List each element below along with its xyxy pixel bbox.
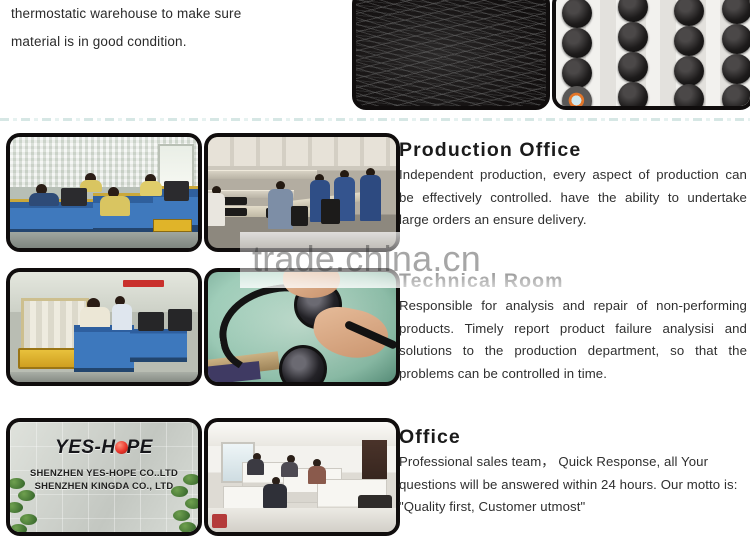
- employee-body: [281, 462, 298, 477]
- cubicle-partition: [130, 329, 186, 362]
- section-production-office: Production Office Independent production…: [399, 139, 747, 262]
- production-office-body: Independent production, every aspect of …: [399, 164, 747, 232]
- intro-line-2: material is in good condition.: [11, 28, 341, 56]
- floor: [208, 508, 396, 532]
- sales-office-image: [208, 422, 396, 532]
- worker-body: [140, 181, 163, 195]
- section-technical-room: Technical Room Responsible for analysis …: [399, 270, 747, 385]
- ceiling-lights: [208, 137, 396, 166]
- floor: [10, 372, 198, 382]
- photo-production-office-cubicles: [6, 133, 202, 252]
- office-body: Professional sales team， Quick Response,…: [399, 451, 747, 519]
- worker-body: [29, 193, 59, 206]
- intro-line-1: thermostatic warehouse to make sure: [11, 0, 341, 28]
- parts-shelf: [208, 170, 317, 179]
- technical-room-body: Responsible for analysis and repair of n…: [399, 295, 747, 385]
- plant-left: [10, 464, 44, 532]
- photo-assembly-line: [204, 133, 400, 252]
- production-office-cubicles-image: [10, 137, 198, 248]
- photo-speaker-driver-trays: [552, 0, 750, 110]
- department-sign: [153, 219, 193, 232]
- desk-surface: [10, 232, 198, 248]
- production-office-heading: Production Office: [399, 139, 747, 162]
- cable-wire-bundle-image: [356, 0, 546, 106]
- red-bin: [212, 514, 227, 527]
- worker-body: [204, 193, 225, 226]
- worker-body: [100, 196, 130, 216]
- employee-body: [247, 459, 264, 474]
- speaker-driver-trays-image: [556, 0, 750, 106]
- monitor: [168, 309, 192, 331]
- office-heading: Office: [399, 426, 747, 449]
- employee-body: [263, 484, 287, 508]
- red-banner: [123, 280, 164, 288]
- lobby-company-sign-image: YES-HPE SHENZHEN YES-HOPE CO..LTD SHENZH…: [10, 422, 198, 532]
- technical-room-heading: Technical Room: [399, 270, 747, 293]
- monitor: [138, 312, 164, 332]
- photo-lobby-company-sign: YES-HPE SHENZHEN YES-HOPE CO..LTD SHENZH…: [6, 418, 202, 536]
- photo-sales-office: [204, 418, 400, 536]
- employee-body: [308, 466, 327, 484]
- photo-headphone-repair: [204, 268, 400, 386]
- plant-right: [164, 464, 198, 532]
- worker-body: [360, 175, 381, 222]
- equipment-case: [291, 206, 308, 226]
- engineer-body: [80, 307, 110, 327]
- assembly-line-image: [208, 137, 396, 248]
- photo-technical-room-desk: [6, 268, 202, 386]
- logo-suffix: PE: [127, 437, 153, 458]
- technical-room-desk-image: [10, 272, 198, 382]
- company-name-line-1: SHENZHEN YES-HOPE CO..LTD: [30, 467, 178, 478]
- monitor: [164, 181, 188, 201]
- photo-cable-wire-bundle: [352, 0, 550, 110]
- engineer-body: [112, 304, 133, 330]
- section-office: Office Professional sales team， Quick Re…: [399, 426, 747, 519]
- logo-prefix: YES-H: [55, 437, 116, 458]
- worker-body: [268, 189, 292, 229]
- equipment-case: [321, 199, 340, 223]
- intro-paragraph: thermostatic warehouse to make sure mate…: [11, 0, 341, 56]
- monitor: [61, 188, 87, 206]
- parts-bin: [223, 197, 247, 205]
- headphone-repair-image: [208, 272, 396, 382]
- company-logo: YES-HPE: [55, 437, 153, 459]
- cubicle-partition: [74, 325, 134, 376]
- company-name-line-2: SHENZHEN KINGDA CO., LTD: [35, 480, 174, 491]
- parts-bin: [223, 208, 247, 216]
- section-divider: [0, 118, 750, 121]
